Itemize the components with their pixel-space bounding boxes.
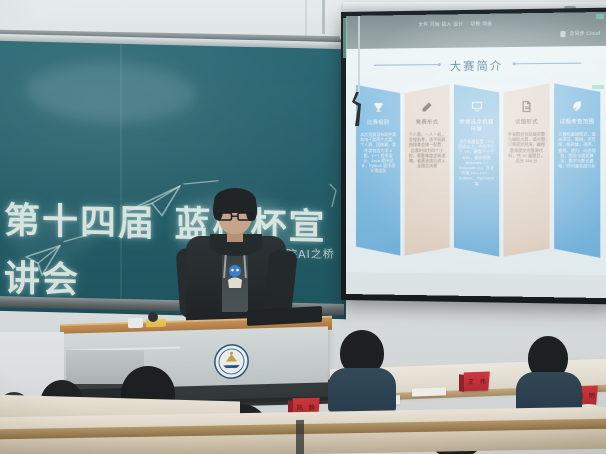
panel-heading: 参赛选手机器环境 [454, 119, 500, 133]
panel-heading: 试题考查范围 [554, 119, 601, 126]
nameplate-text: 陆 静 [297, 403, 317, 412]
cloud-icon [560, 31, 565, 37]
ribbon-tabs[interactable]: 文件 开始 插入 设计 切换 动画 [418, 21, 492, 28]
university-emblem [213, 342, 250, 380]
document-icon [520, 100, 533, 113]
title-rule-dot [513, 62, 516, 65]
microphone [148, 312, 158, 322]
ribbon-tab-1[interactable]: 文件 开始 插入 设计 [418, 21, 463, 28]
slide-panel-row: 比赛组别 本次竞赛设有软件类和电子类两个大类，个人赛、团体赛，软件类包含大学 A… [356, 83, 600, 258]
panel-heading: 试题形式 [503, 119, 549, 126]
panel-body: 选手机器配置 CPU 四核以上，内存不小于 4G，硬盘不小于 60G，操作系统 … [454, 139, 500, 187]
slide-canvas: 大赛简介 比赛组别 本次竞赛设有软件类和电子类两个大类，个人赛、团体赛，软件类包… [346, 46, 606, 298]
eyeglasses-icon [217, 212, 253, 221]
screen-edge-highlight-right-lower [592, 85, 604, 89]
classroom-photo: 第十四届 蓝桥杯宣讲会 智能学院AI之桥 文件 开始 插入 设计 切换 动画 云… [0, 0, 606, 454]
presentation-toolbar[interactable]: 文件 开始 插入 设计 切换 动画 云同步 Cloud [346, 12, 606, 49]
desk-paper [412, 387, 446, 396]
slide-bottom-band [346, 272, 606, 298]
nameplate-text: 王 伟 [468, 377, 488, 387]
cloud-sync-label: 云同步 Cloud [570, 31, 601, 38]
title-rule-dot [438, 63, 441, 66]
desk-row-gap [296, 420, 304, 454]
monitor-icon [470, 100, 483, 113]
slide-panel-5: 试题考查范围 计算机基础知识，基本语法，数组、字符串、结构体，排序、查找、递归、… [554, 83, 601, 258]
podium-papers [128, 318, 143, 328]
panel-body: 计算机基础知识，基本语法，数组、字符串、结构体，排序、查找、递归、动态规划，图论… [554, 131, 601, 168]
panel-body: 本次竞赛设有软件类和电子类两个大类，个人赛、团体赛，软件类包含大学 A 组、C+… [356, 132, 401, 174]
slide-panel-3: 参赛选手机器环境 选手机器配置 CPU 四核以上，内存不小于 4G，硬盘不小于 … [454, 84, 500, 257]
cloud-sync-status[interactable]: 云同步 Cloud [560, 31, 600, 38]
chalk-smudge [26, 61, 196, 125]
hoodie-graphic-icon [226, 264, 244, 288]
pen-icon [420, 100, 433, 113]
student-1 [330, 330, 394, 408]
student-2 [520, 336, 578, 410]
panel-body: 考查题目包括填空题与编程大题，填空题只需提交结果，编程题需提交完整源代码，共 1… [503, 131, 549, 163]
leaf-icon [570, 100, 584, 113]
screen-cord-handle-icon[interactable] [349, 92, 365, 126]
panel-body: 个人赛，一人一机，全程机考，选手机器由组委会统一配置，比赛时间为四个小时，赛题难… [405, 132, 450, 169]
slide-panel-4: 试题形式 考查题目包括填空题与编程大题，填空题只需提交结果，编程题需提交完整源代… [503, 83, 549, 257]
trophy-icon [372, 101, 385, 114]
nameplate-1: 王 伟 [459, 371, 493, 394]
screen-edge-highlight-left [343, 18, 347, 58]
nameplate-side [459, 374, 464, 392]
ribbon-tab-2[interactable]: 切换 动画 [470, 21, 492, 27]
panel-heading: 竞赛形式 [405, 120, 450, 127]
screen-edge-highlight-right [596, 14, 604, 19]
slide-panel-2: 竞赛形式 个人赛，一人一机，全程机考，选手机器由组委会统一配置，比赛时间为四个小… [405, 84, 450, 256]
screen-pull-cord[interactable] [358, 16, 360, 94]
wall-seam [305, 0, 307, 40]
projection-screen[interactable]: 文件 开始 插入 设计 切换 动画 云同步 Cloud 大赛简介 比赛组别 本次… [346, 12, 606, 298]
ceiling-pipe [322, 0, 325, 34]
